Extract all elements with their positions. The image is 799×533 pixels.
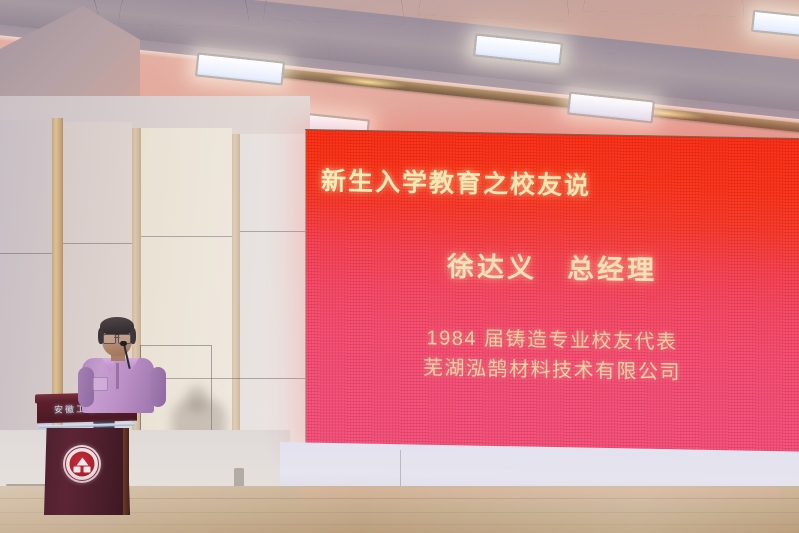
speaker-shirt-placket [116, 363, 119, 389]
led-screen: 新生入学教育之校友说 徐达义 总经理 1984 届铸造专业校友代表 芜湖泓鹄材料… [305, 129, 799, 455]
speaker-arm-right [150, 367, 166, 407]
wall-seam [240, 231, 306, 232]
wall-seam [63, 243, 132, 244]
wall-pilaster [232, 134, 240, 444]
lower-wall-seam [400, 450, 401, 490]
wall-seam [141, 236, 232, 237]
presentation-slide: 新生入学教育之校友说 徐达义 总经理 1984 届铸造专业校友代表 芜湖泓鹄材料… [305, 129, 799, 455]
eyeglasses-icon [103, 334, 131, 342]
auditorium-photo: 新生入学教育之校友说 徐达义 总经理 1984 届铸造专业校友代表 芜湖泓鹄材料… [0, 0, 799, 533]
speaker-shirt-pocket [92, 377, 108, 391]
speaker-person [76, 315, 166, 410]
seal-triangle-mark [76, 458, 88, 466]
microphone-icon [120, 341, 127, 346]
ceiling-arc-seam [119, 0, 252, 28]
university-seal-icon [63, 445, 101, 483]
seal-book-mark [74, 467, 81, 473]
slide-speaker-name: 徐达义 总经理 [305, 242, 799, 290]
speaker-head-shadow [186, 386, 208, 412]
floor-plank-line [0, 524, 799, 525]
podium-right-edge [123, 428, 129, 515]
podium-light-strip [39, 423, 135, 429]
speaker-hair [100, 317, 134, 335]
seal-inner-disc [70, 452, 95, 477]
seal-book-mark [84, 467, 91, 473]
slide-title: 新生入学教育之校友说 [321, 161, 591, 202]
wall-seam [0, 253, 52, 254]
eyeglass-lens-left [103, 334, 116, 344]
wall-panel [240, 134, 306, 448]
